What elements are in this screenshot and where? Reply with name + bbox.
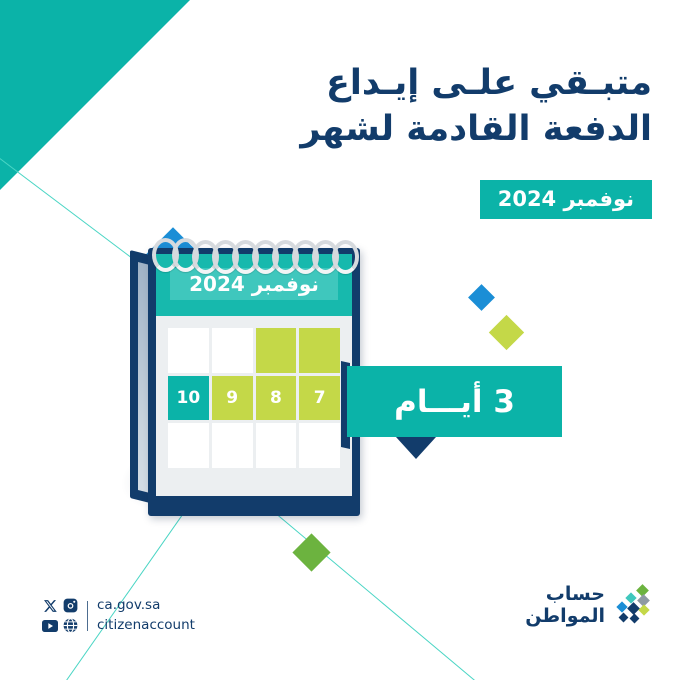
green-diamond-bottom: [292, 533, 330, 571]
calendar-day-empty: [256, 328, 297, 373]
youtube-icon[interactable]: [42, 618, 58, 634]
calendar-day-9: 9: [212, 376, 253, 421]
headline-line-1: متبـقي علـى إيـداع: [232, 60, 652, 106]
calendar-day-empty: [212, 423, 253, 468]
headline: متبـقي علـى إيـداع الدفعة القادمة لشهر: [232, 60, 652, 152]
instagram-icon[interactable]: [62, 598, 78, 614]
footer-social-block: ca.gov.sa citizenaccount: [42, 596, 195, 635]
footer-divider: [87, 601, 88, 631]
logo-mark: [612, 585, 654, 627]
footer-handle-account[interactable]: citizenaccount: [97, 616, 195, 636]
logo-text-line-2: المواطن: [525, 606, 605, 628]
calendar-day-empty: [168, 423, 209, 468]
headline-line-2: الدفعة القادمة لشهر: [232, 106, 652, 152]
calendar-day-empty: [299, 328, 340, 373]
footer-handle-website[interactable]: ca.gov.sa: [97, 596, 195, 616]
calendar-day-7: 7: [299, 376, 340, 421]
social-icon-grid: [42, 598, 78, 634]
calendar-day-grid: 10987: [168, 328, 340, 468]
x-icon[interactable]: [42, 598, 58, 614]
month-pill: نوفمبر 2024: [480, 180, 652, 219]
calendar-day-8: 8: [256, 376, 297, 421]
calendar-day-empty: [256, 423, 297, 468]
teal-corner-triangle: [0, 0, 190, 190]
poster-canvas: متبـقي علـى إيـداع الدفعة القادمة لشهر ن…: [0, 0, 680, 680]
calendar-day-empty: [212, 328, 253, 373]
globe-icon[interactable]: [62, 618, 78, 634]
days-badge: 3 أيـــام: [347, 366, 562, 437]
footer-handles: ca.gov.sa citizenaccount: [97, 596, 195, 635]
green-diamond-accent: [489, 315, 524, 350]
brand-logo: حساب المواطن: [525, 584, 654, 628]
calendar-day-empty: [299, 423, 340, 468]
spiral-ring: [332, 240, 359, 274]
logo-text-line-1: حساب: [525, 584, 605, 606]
calendar-month-label: نوفمبر 2024: [170, 268, 338, 300]
calendar-day-10: 10: [168, 376, 209, 421]
calendar-day-empty: [168, 328, 209, 373]
days-badge-arrow: [396, 437, 436, 459]
logo-text: حساب المواطن: [525, 584, 605, 628]
blue-diamond-small: [468, 284, 495, 311]
